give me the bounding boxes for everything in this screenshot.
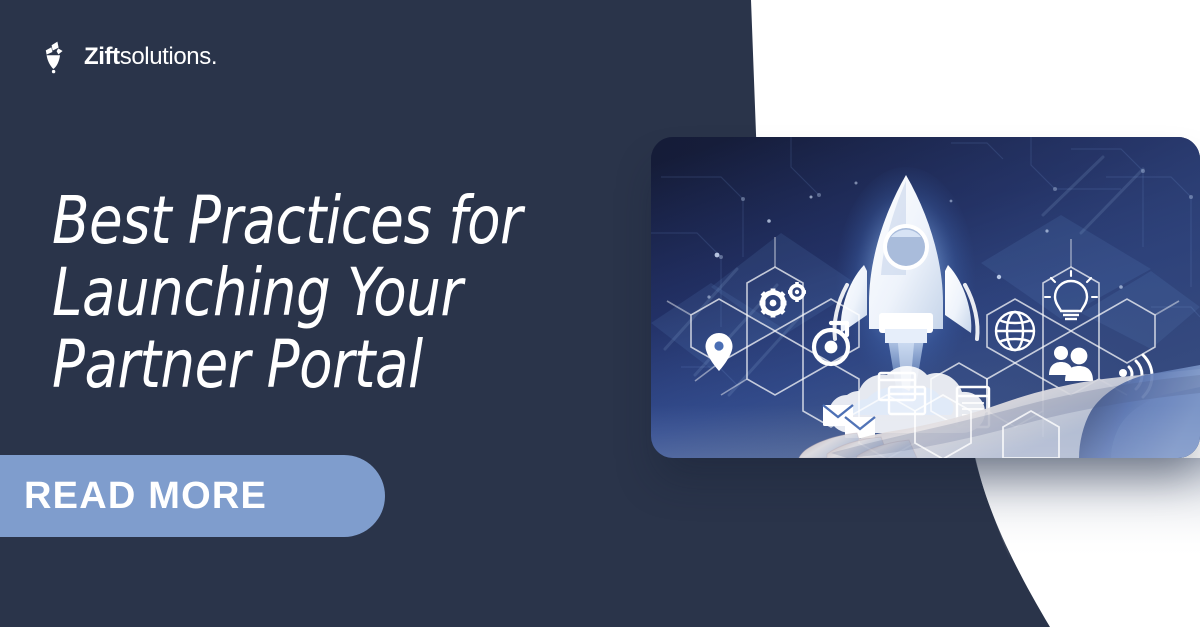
- banner-root: Ziftsolutions. Best Practices for Launch…: [0, 0, 1200, 627]
- headline-line-1: Best Practices for: [52, 185, 604, 257]
- headline-line-2: Launching Your: [52, 257, 604, 329]
- read-more-label: READ MORE: [24, 477, 267, 515]
- hero-illustration: [651, 137, 1200, 458]
- hero-image-card: [651, 137, 1200, 458]
- brand-name-regular: solutions: [120, 43, 211, 70]
- read-more-button[interactable]: READ MORE: [0, 455, 385, 537]
- page-title: Best Practices for Launching Your Partne…: [52, 185, 604, 401]
- brand-name-bold: Zift: [84, 43, 120, 70]
- zift-flag-mark-icon: [44, 40, 74, 74]
- brand-logo[interactable]: Ziftsolutions.: [44, 40, 217, 74]
- headline-line-3: Partner Portal: [52, 329, 604, 401]
- brand-wordmark: Ziftsolutions.: [84, 45, 217, 69]
- brand-name-suffix: .: [211, 43, 217, 70]
